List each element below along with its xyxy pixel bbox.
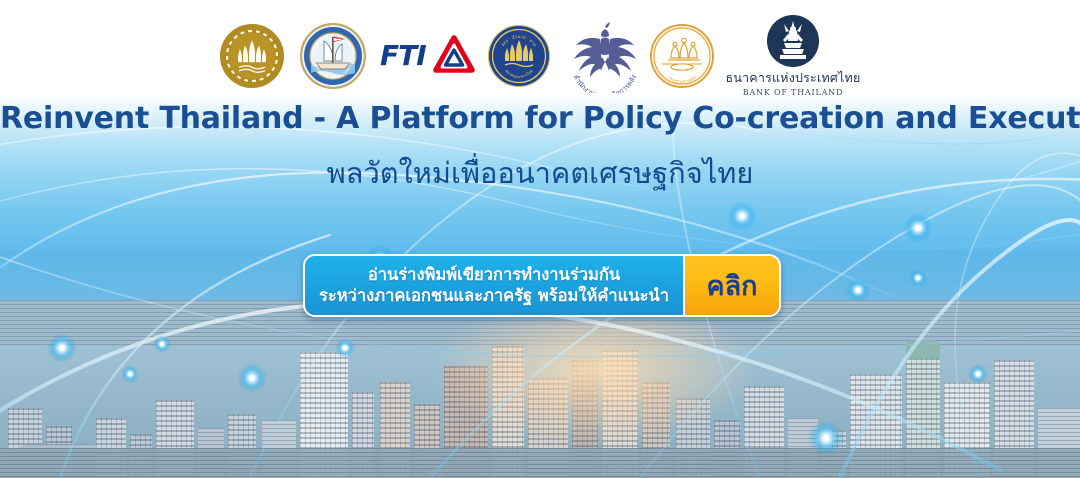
cta-text-panel[interactable]: อ่านร่างพิมพ์เขียวการทำงานร่วมกัน ระหว่า… bbox=[305, 256, 683, 315]
ministry-of-industry-gear-seal bbox=[220, 24, 284, 88]
click-button[interactable]: คลิก bbox=[683, 256, 779, 315]
mof-emblem-icon: กระทรวงการคลัง bbox=[652, 26, 712, 86]
board-of-trade-of-thailand-seal: สภาหอการค้าแห่งประเทศไทย BOARD OF TRADE … bbox=[300, 23, 366, 89]
navy-seal-emblem-icon: สรร · อำนวย · สาย สมาคมธนาคารไทย bbox=[488, 25, 550, 87]
bot-caption-english: BANK OF THAILAND bbox=[743, 88, 843, 97]
cta-line-2: ระหว่างภาคเอกชนและภาครัฐ พร้อมให้คำแนะนำ bbox=[319, 286, 669, 306]
svg-text:FTI: FTI bbox=[380, 39, 426, 72]
svg-text:สำนักงานเศรษฐกิจการคลัง: สำนักงานเศรษฐกิจการคลัง bbox=[571, 73, 637, 93]
federation-of-thai-industries-logo: FTI bbox=[380, 33, 476, 79]
partner-logo-row: สภาหอการค้าแห่งประเทศไทย BOARD OF TRADE … bbox=[0, 14, 1080, 98]
board-of-trade-circular-seal-icon: สภาหอการค้าแห่งประเทศไทย BOARD OF TRADE … bbox=[300, 23, 366, 89]
fiscal-policy-office-garuda-seal: สำนักงานเศรษฐกิจการคลัง bbox=[566, 19, 644, 93]
cta-line-1: อ่านร่างพิมพ์เขียวการทำงานร่วมกัน bbox=[368, 265, 620, 285]
gold-circular-seal-icon: กระทรวงการคลัง bbox=[650, 24, 714, 88]
ship-emblem-icon: สภาหอการค้าแห่งประเทศไทย BOARD OF TRADE … bbox=[302, 25, 364, 87]
bot-circular-seal-icon bbox=[767, 15, 819, 67]
page-title: Reinvent Thailand - A Platform for Polic… bbox=[0, 101, 1080, 136]
page-subtitle-thai: พลวัตใหม่เพื่ออนาคตเศรษฐกิจไทย bbox=[0, 150, 1080, 196]
reinvent-thailand-banner: สภาหอการค้าแห่งประเทศไทย BOARD OF TRADE … bbox=[0, 0, 1080, 478]
lotus-emblem-icon bbox=[235, 37, 269, 73]
bot-deity-icon bbox=[767, 15, 819, 67]
bot-caption-thai: ธนาคารแห่งประเทศไทย bbox=[726, 68, 861, 88]
arc-vertical bbox=[955, 153, 1080, 478]
arc-glow-right bbox=[840, 220, 1080, 478]
fti-wordmark-icon: FTI bbox=[380, 32, 476, 80]
gear-seal-icon bbox=[220, 24, 284, 88]
arc-glow-left bbox=[0, 301, 1000, 470]
read-blueprint-cta-button[interactable]: อ่านร่างพิมพ์เขียวการทำงานร่วมกัน ระหว่า… bbox=[303, 254, 781, 317]
bank-of-thailand-seal: ธนาคารแห่งประเทศไทย BANK OF THAILAND bbox=[726, 15, 861, 97]
ministry-of-finance-seal: กระทรวงการคลัง bbox=[650, 24, 714, 88]
thai-chamber-of-commerce-seal: สรร · อำนวย · สาย สมาคมธนาคารไทย bbox=[488, 25, 550, 87]
garuda-emblem-icon: สำนักงานเศรษฐกิจการคลัง bbox=[566, 19, 644, 93]
navy-circular-seal-icon: สรร · อำนวย · สาย สมาคมธนาคารไทย bbox=[488, 25, 550, 87]
